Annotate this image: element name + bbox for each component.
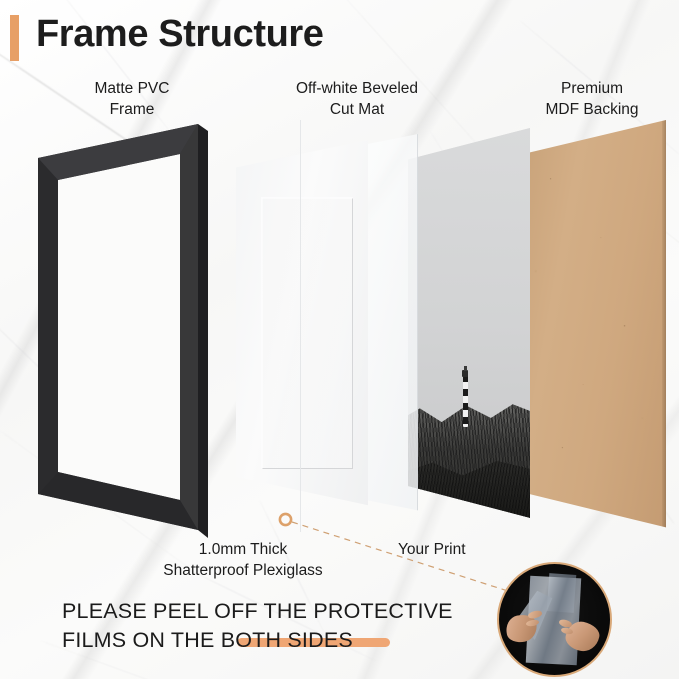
layer-print-photo [408, 128, 530, 532]
photo-lighthouse [462, 365, 469, 427]
mdf-side-edge [662, 120, 666, 540]
frame-window-opening [58, 154, 180, 500]
frame-right-rail [180, 124, 198, 530]
label-your-print: Your Print [398, 539, 518, 560]
title-accent-bar [10, 15, 19, 61]
frame-right-depth [198, 124, 208, 538]
lighthouse-lamp [464, 366, 467, 371]
plexiglass-front-edge [300, 120, 301, 532]
layer-mdf-backing [518, 120, 666, 540]
label-matte-pvc-frame: Matte PVC Frame [52, 78, 212, 120]
peel-film-notice: PLEASE PEEL OFF THE PROTECTIVE FILMS ON … [62, 597, 482, 655]
film-peel-inset-photo [497, 562, 612, 677]
lighthouse-tower [463, 375, 468, 427]
layer-mat-board [236, 140, 368, 522]
frame-structure-infographic: Frame Structure Matte PVC Frame Off-whit… [0, 0, 679, 679]
mat-bevel-edge [261, 197, 353, 468]
label-plexiglass: 1.0mm Thick Shatterproof Plexiglass [118, 539, 368, 581]
lighthouse-gallery [462, 370, 468, 377]
frame-left-rail [38, 158, 58, 494]
page-title: Frame Structure [36, 13, 324, 56]
label-off-white-beveled-cut-mat: Off-white Beveled Cut Mat [262, 78, 452, 120]
layer-black-frame [34, 118, 206, 538]
label-premium-mdf-backing: Premium MDF Backing [512, 78, 672, 120]
